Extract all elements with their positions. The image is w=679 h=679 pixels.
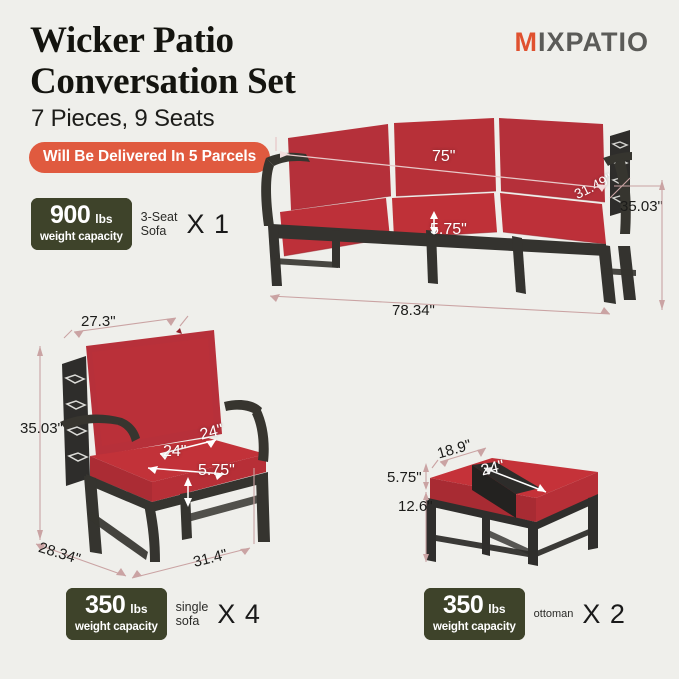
single-sofa-item-label: single sofa [176,600,209,629]
single-sofa-weight-number: 350 [85,593,125,618]
logo-text: IXPATIO [538,27,649,58]
title-line-2: Conversation Set [30,61,470,102]
sofa-dimension-lines [258,118,678,328]
ottoman-frame-height-label: 12.6" [398,498,433,515]
single-sofa-item-label-line1: single [176,600,209,614]
page-title: Wicker Patio Conversation Set [30,20,470,102]
single-sofa-weight-badge: 350 lbs weight capacity [66,588,167,640]
sofa-capacity-group: 900 lbs weight capacity 3-Seat Sofa X 1 [31,198,230,250]
sofa-quantity: X 1 [186,209,230,240]
sofa-item-label: 3-Seat Sofa [141,210,178,239]
sofa-weight-badge: 900 lbs weight capacity [31,198,132,250]
sofa-item-label-line2: Sofa [141,224,178,238]
ottoman-weight-badge: 350 lbs weight capacity [424,588,525,640]
single-sofa-item-label-line2: sofa [176,614,209,628]
infographic-canvas: Wicker Patio Conversation Set 7 Pieces, … [0,0,679,679]
chair-cushion-thickness-label: 5.75" [198,462,235,480]
sofa-capacity-label: weight capacity [40,230,123,244]
logo-m-icon: M [514,27,538,58]
ottoman-weight-unit: lbs [488,603,505,615]
sofa-weight-number: 900 [50,203,90,228]
delivery-badge: Will Be Delivered In 5 Parcels [29,142,270,173]
ottoman-capacity-label: weight capacity [433,620,516,634]
ottoman-cushion-thickness-label: 5.75" [387,469,422,486]
ottoman-weight-number: 350 [443,593,483,618]
ottoman-item-label: ottoman [534,608,574,621]
single-sofa-quantity: X 4 [217,599,261,630]
single-sofa-capacity-label: weight capacity [75,620,158,634]
ottoman-capacity-group: 350 lbs weight capacity ottoman X 2 [424,588,626,640]
subtitle: 7 Pieces, 9 Seats [31,105,214,133]
ottoman-quantity: X 2 [582,599,626,630]
single-sofa-weight-unit: lbs [130,603,147,615]
single-sofa-capacity-group: 350 lbs weight capacity single sofa X 4 [66,588,261,640]
title-line-1: Wicker Patio [30,20,470,61]
sofa-item-label-line1: 3-Seat [141,210,178,224]
sofa-weight-unit: lbs [95,213,112,225]
brand-logo: MIXPATIO [514,27,649,58]
ottoman-item-label-line1: ottoman [534,608,574,621]
chair-height-label: 35.03" [20,420,63,437]
chair-back-width-label: 27.3" [81,313,116,330]
chair-seat-width-label: 24" [163,443,186,461]
